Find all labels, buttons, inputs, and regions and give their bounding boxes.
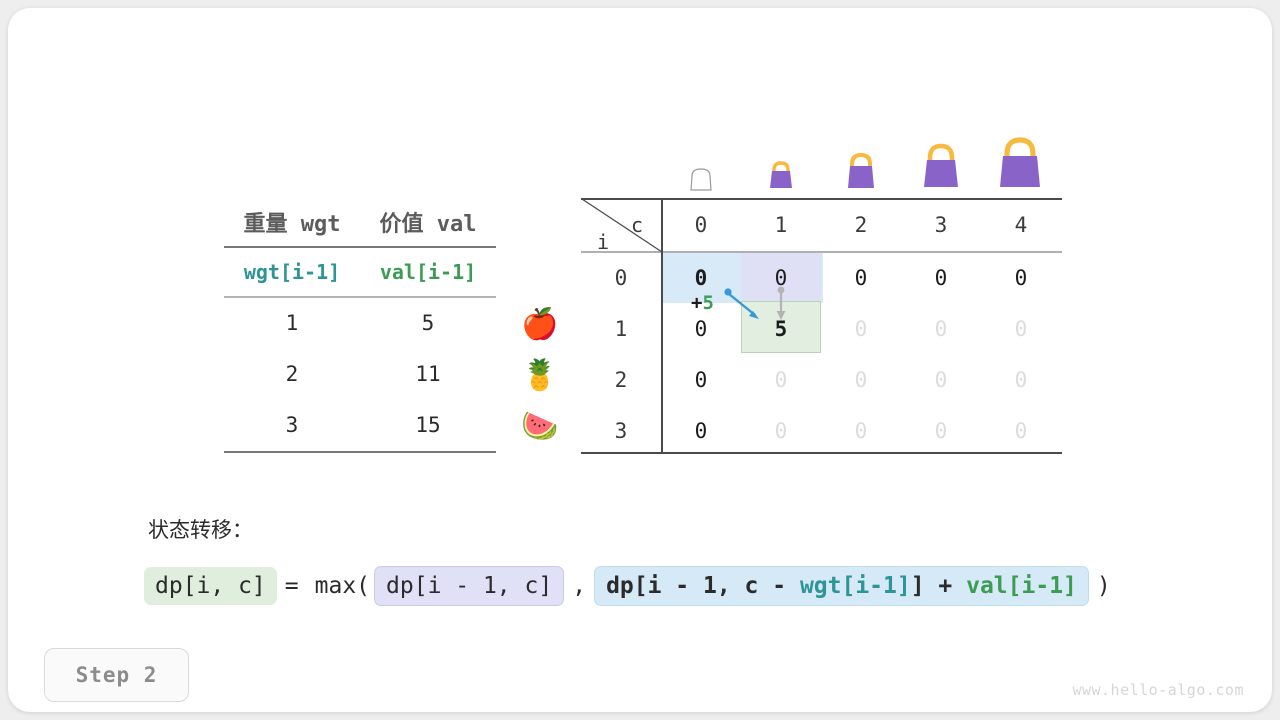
dp-cell-1-2: 0 xyxy=(821,317,901,341)
items-table-row: 2 11 xyxy=(224,349,496,400)
pineapple-icon: 🍍 xyxy=(513,361,567,391)
dp-cell-0-2: 0 xyxy=(821,266,901,290)
dp-col-header-1: 1 xyxy=(741,213,821,237)
formula-take-mid: ] + xyxy=(911,573,966,599)
skip-item-arrow-icon xyxy=(772,286,792,328)
dp-cell-3-2: 0 xyxy=(821,419,901,443)
watermark: www.hello-algo.com xyxy=(1072,681,1244,699)
apple-icon: 🍎 xyxy=(513,310,567,340)
item-weight-2: 2 xyxy=(224,362,360,386)
formula-take-prefix: dp[i - 1, c - xyxy=(606,573,800,599)
dp-cell-2-3: 0 xyxy=(901,368,981,392)
bag-icon-capacity-3 xyxy=(915,139,967,191)
dp-row-header-2: 2 xyxy=(581,368,661,392)
items-header-value: 价值 val xyxy=(360,206,496,238)
dp-row-header-1: 1 xyxy=(581,317,661,341)
dp-cell-2-1: 0 xyxy=(741,368,821,392)
dp-cell-3-3: 0 xyxy=(901,419,981,443)
items-table: 重量 wgt 价值 val wgt[i-1] val[i-1] 1 5 2 11… xyxy=(224,198,496,453)
items-subheader-val: val[i-1] xyxy=(360,260,496,284)
gain-amount: 5 xyxy=(702,292,713,314)
dp-cell-3-1: 0 xyxy=(741,419,821,443)
dp-col-header-4: 4 xyxy=(981,213,1061,237)
dp-row-header-0: 0 xyxy=(581,266,661,290)
dp-cell-0-4: 0 xyxy=(981,266,1061,290)
formula-option-take: dp[i - 1, c - wgt[i-1]] + val[i-1] xyxy=(594,566,1089,606)
bag-icon-capacity-2 xyxy=(840,148,882,192)
dp-cell-3-0: 0 xyxy=(661,419,741,443)
state-transition-label: 状态转移： xyxy=(148,514,253,544)
gain-plus-sign: + xyxy=(691,292,702,314)
items-table-subheader-row: wgt[i-1] val[i-1] xyxy=(224,248,496,296)
dp-cell-3-4: 0 xyxy=(981,419,1061,443)
formula-comma: , xyxy=(564,573,594,599)
dp-col-header-0: 0 xyxy=(661,213,741,237)
dp-col-header-3: 3 xyxy=(901,213,981,237)
dp-cell-0-3: 0 xyxy=(901,266,981,290)
items-subheader-wgt: wgt[i-1] xyxy=(224,260,360,284)
dp-col-header-2: 2 xyxy=(821,213,901,237)
item-value-2: 11 xyxy=(360,362,496,386)
items-table-row: 3 15 xyxy=(224,400,496,451)
formula-target: dp[i, c] xyxy=(144,567,277,605)
bag-icon-capacity-1 xyxy=(763,156,799,192)
formula-equals: = xyxy=(277,573,307,599)
items-header-weight: 重量 wgt xyxy=(224,206,360,238)
step-badge: Step 2 xyxy=(44,648,189,702)
dp-cell-2-4: 0 xyxy=(981,368,1061,392)
item-value-3: 15 xyxy=(360,413,496,437)
dp-bottom-rule xyxy=(581,452,1062,454)
formula-close-paren: ) xyxy=(1089,573,1119,599)
dp-axis-label-i: i xyxy=(597,230,609,254)
watermelon-icon: 🍉 xyxy=(513,412,567,442)
item-value-1: 5 xyxy=(360,311,496,335)
dp-axis-label-c: c xyxy=(631,213,643,237)
bag-icon-capacity-4 xyxy=(990,132,1050,192)
items-table-rule-bottom xyxy=(224,451,496,453)
slide-card: 重量 wgt 价值 val wgt[i-1] val[i-1] 1 5 2 11… xyxy=(8,8,1272,712)
item-weight-1: 1 xyxy=(224,311,360,335)
dp-cell-1-3: 0 xyxy=(901,317,981,341)
dp-row-header-3: 3 xyxy=(581,419,661,443)
bag-icon-capacity-0 xyxy=(687,166,715,192)
dp-cell-2-0: 0 xyxy=(661,368,741,392)
corner-diagonal-icon xyxy=(581,198,663,253)
items-table-header-row: 重量 wgt 价值 val xyxy=(224,198,496,246)
formula-take-wgt: wgt[i-1] xyxy=(800,573,911,599)
item-weight-3: 3 xyxy=(224,413,360,437)
formula-max-open: max( xyxy=(307,573,374,599)
dp-cell-2-2: 0 xyxy=(821,368,901,392)
dp-cell-1-4: 0 xyxy=(981,317,1061,341)
formula-option-skip: dp[i - 1, c] xyxy=(374,566,564,606)
state-transition-formula: dp[i, c] = max( dp[i - 1, c] , dp[i - 1,… xyxy=(144,566,1119,606)
gain-annotation: +5 xyxy=(691,292,714,314)
items-table-row: 1 5 xyxy=(224,298,496,349)
formula-take-val: val[i-1] xyxy=(966,573,1077,599)
